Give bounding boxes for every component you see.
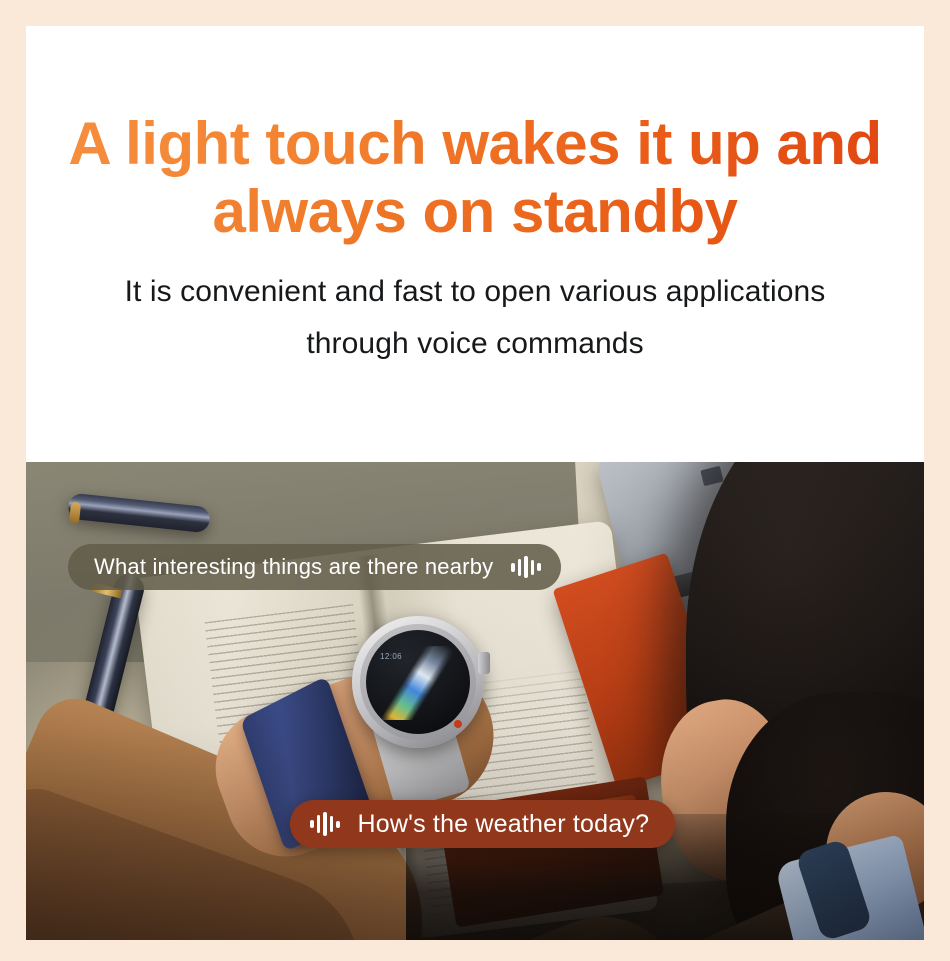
speech-bubble-nearby: What interesting things are there nearby — [68, 544, 561, 590]
speech-bubble-nearby-text: What interesting things are there nearby — [94, 554, 493, 580]
headline-line-2: always on standby — [26, 178, 924, 246]
headline: A light touch wakes it up and always on … — [26, 110, 924, 246]
headline-line-1: A light touch wakes it up and — [26, 110, 924, 178]
smartwatch-crown — [478, 652, 490, 674]
speech-bubble-weather-text: How's the weather today? — [358, 810, 650, 839]
subheadline-line-1: It is convenient and fast to open variou… — [26, 266, 924, 318]
promo-page: A light touch wakes it up and always on … — [0, 0, 950, 961]
subheadline: It is convenient and fast to open variou… — [26, 266, 924, 370]
text-panel: A light touch wakes it up and always on … — [26, 26, 924, 462]
speech-bubble-weather: How's the weather today? — [290, 800, 675, 848]
voice-waveform-icon — [511, 556, 541, 578]
lifestyle-photo: 12:06 What interesting things are there … — [26, 462, 924, 940]
watch-time-label: 12:06 — [380, 652, 402, 661]
subheadline-line-2: through voice commands — [26, 318, 924, 370]
smartwatch-face: 12:06 — [366, 630, 470, 734]
voice-waveform-icon — [310, 813, 340, 835]
watch-indicator-dot — [454, 720, 462, 728]
